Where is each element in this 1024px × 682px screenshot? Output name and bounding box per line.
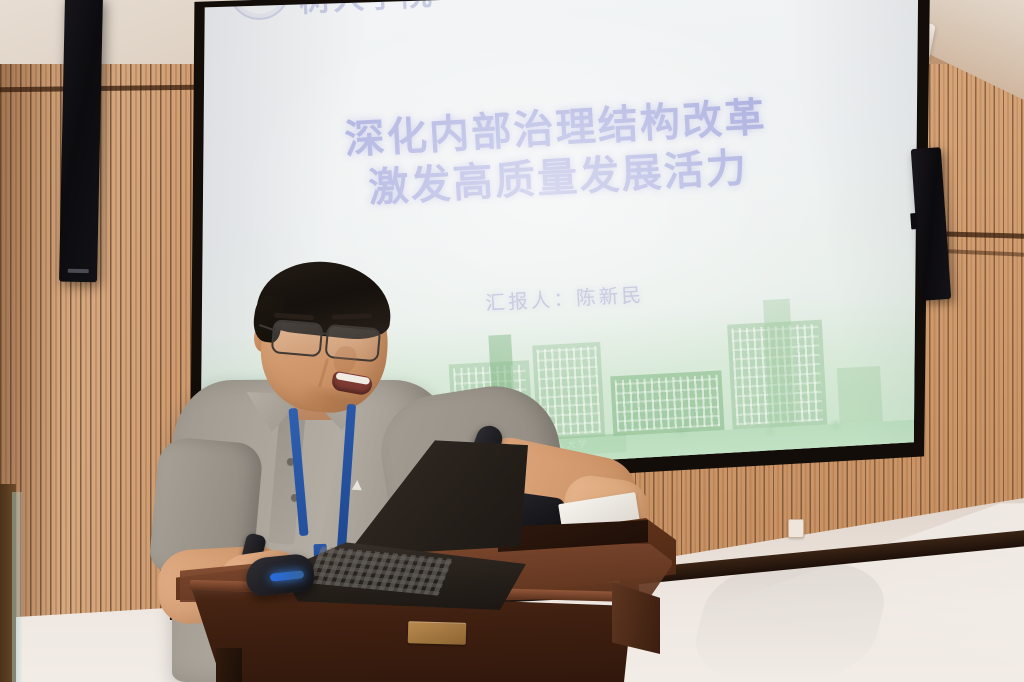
wall-socket-icon: [788, 519, 804, 538]
speaker-brand-badge: [68, 269, 89, 273]
presentation-room-photo: 树人大学 浙江树人学院 树人学院 ZHEJIANG SHUREN UNIVERS…: [0, 0, 1024, 682]
wall-speaker-left: [59, 0, 103, 282]
eyeglass-lens-left: [271, 319, 324, 357]
podium-leg: [216, 648, 242, 682]
slide-title: 深化内部治理结构改革 激发高质量发展活力: [196, 85, 924, 225]
podium-nameplate: [408, 621, 467, 645]
left-foreground-glass-panel: [12, 492, 22, 682]
speaker-mount-bracket: [910, 213, 918, 229]
